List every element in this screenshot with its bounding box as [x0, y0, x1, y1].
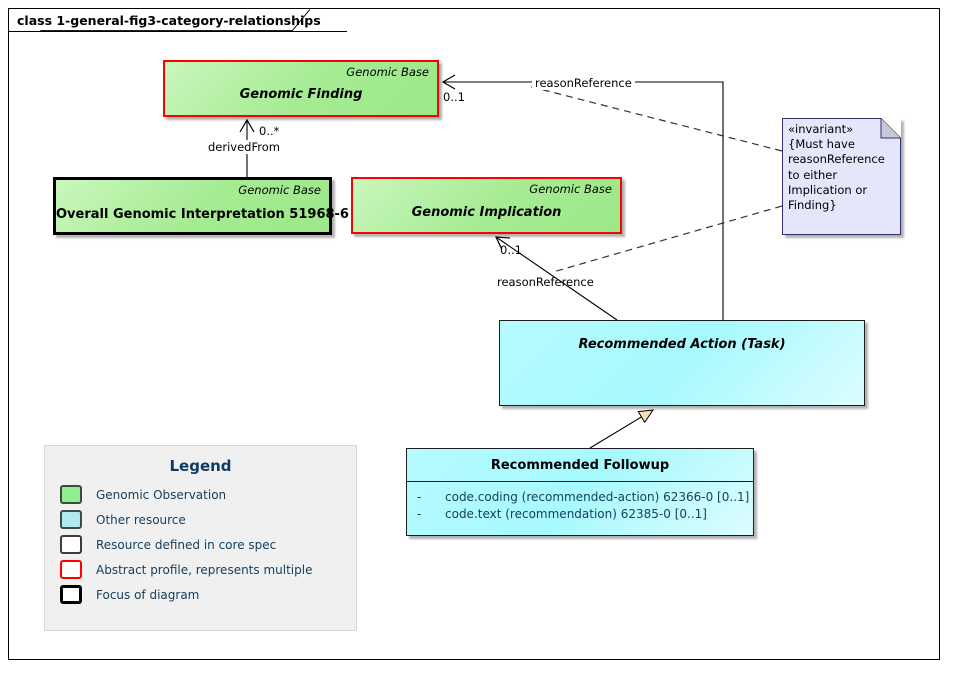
class-overall-genomic-interpretation-name: Overall Genomic Interpretation 51968-6: [56, 207, 329, 222]
class-genomic-finding-stereotype: Genomic Base: [346, 65, 429, 79]
label-reason-reference-implication: reasonReference: [497, 275, 594, 289]
legend-item-other-resource: Other resource: [45, 507, 356, 532]
class-recommended-followup-header: Recommended Followup: [407, 449, 753, 482]
note-invariant-text: «invariant» {Must have reasonReference t…: [788, 122, 897, 213]
note-line: to either: [788, 168, 897, 183]
diagram-title-tab: class 1-general-fig3-category-relationsh…: [8, 8, 347, 32]
class-recommended-followup-attributes: - code.coding (recommended-action) 62366…: [407, 482, 753, 535]
class-genomic-finding-name: Genomic Finding: [165, 87, 437, 102]
class-recommended-action[interactable]: Recommended Action (Task): [499, 320, 865, 406]
label-derived-from: derivedFrom: [208, 140, 280, 154]
legend-items: Genomic Observation Other resource Resou…: [45, 482, 356, 607]
legend-item-abstract-profile: Abstract profile, represents multiple: [45, 557, 356, 582]
legend-swatch-cyan: [60, 510, 82, 529]
legend-swatch-green: [60, 485, 82, 504]
class-genomic-implication[interactable]: Genomic Base Genomic Implication: [351, 177, 622, 234]
legend-label: Abstract profile, represents multiple: [96, 563, 312, 577]
note-line: {Must have: [788, 137, 897, 152]
class-recommended-followup-name: Recommended Followup: [491, 458, 669, 473]
legend-title: Legend: [45, 457, 356, 475]
legend-label: Resource defined in core spec: [96, 538, 276, 552]
multiplicity-derived-from: 0..*: [259, 124, 279, 138]
legend-swatch-white: [60, 535, 82, 554]
multiplicity-reason-reference-implication: 0..1: [500, 243, 522, 257]
legend-panel: Legend Genomic Observation Other resourc…: [44, 445, 357, 631]
legend-swatch-thick-black: [60, 585, 82, 604]
multiplicity-reason-reference-finding: 0..1: [443, 90, 465, 104]
note-invariant[interactable]: «invariant» {Must have reasonReference t…: [782, 118, 901, 235]
legend-item-focus-of-diagram: Focus of diagram: [45, 582, 356, 607]
class-overall-genomic-interpretation[interactable]: Genomic Base Overall Genomic Interpretat…: [53, 177, 332, 235]
class-recommended-followup[interactable]: Recommended Followup - code.coding (reco…: [406, 448, 754, 536]
legend-item-genomic-observation: Genomic Observation: [45, 482, 356, 507]
attribute-text: code.coding (recommended-action) 62366-0…: [445, 489, 749, 506]
class-overall-genomic-interpretation-stereotype: Genomic Base: [238, 183, 321, 197]
diagram-canvas: class 1-general-fig3-category-relationsh…: [0, 0, 953, 675]
attribute-visibility: -: [417, 506, 445, 523]
diagram-title-label: class 1-general-fig3-category-relationsh…: [17, 13, 321, 28]
attribute-visibility: -: [417, 489, 445, 506]
class-genomic-finding[interactable]: Genomic Base Genomic Finding: [163, 60, 439, 117]
class-recommended-action-name: Recommended Action (Task): [500, 337, 864, 352]
note-stereotype: «invariant»: [788, 122, 897, 137]
legend-label: Other resource: [96, 513, 186, 527]
note-line: Finding}: [788, 198, 897, 213]
attribute-row: - code.coding (recommended-action) 62366…: [417, 489, 747, 506]
label-reason-reference-finding: reasonReference: [532, 76, 635, 90]
note-line: Implication or: [788, 183, 897, 198]
class-genomic-implication-stereotype: Genomic Base: [529, 182, 612, 196]
legend-label: Genomic Observation: [96, 488, 226, 502]
legend-swatch-red-outline: [60, 560, 82, 579]
note-line: reasonReference: [788, 152, 897, 167]
legend-item-core-spec-resource: Resource defined in core spec: [45, 532, 356, 557]
class-genomic-implication-name: Genomic Implication: [353, 205, 620, 220]
legend-label: Focus of diagram: [96, 588, 199, 602]
attribute-row: - code.text (recommendation) 62385-0 [0.…: [417, 506, 747, 523]
attribute-text: code.text (recommendation) 62385-0 [0..1…: [445, 506, 707, 523]
